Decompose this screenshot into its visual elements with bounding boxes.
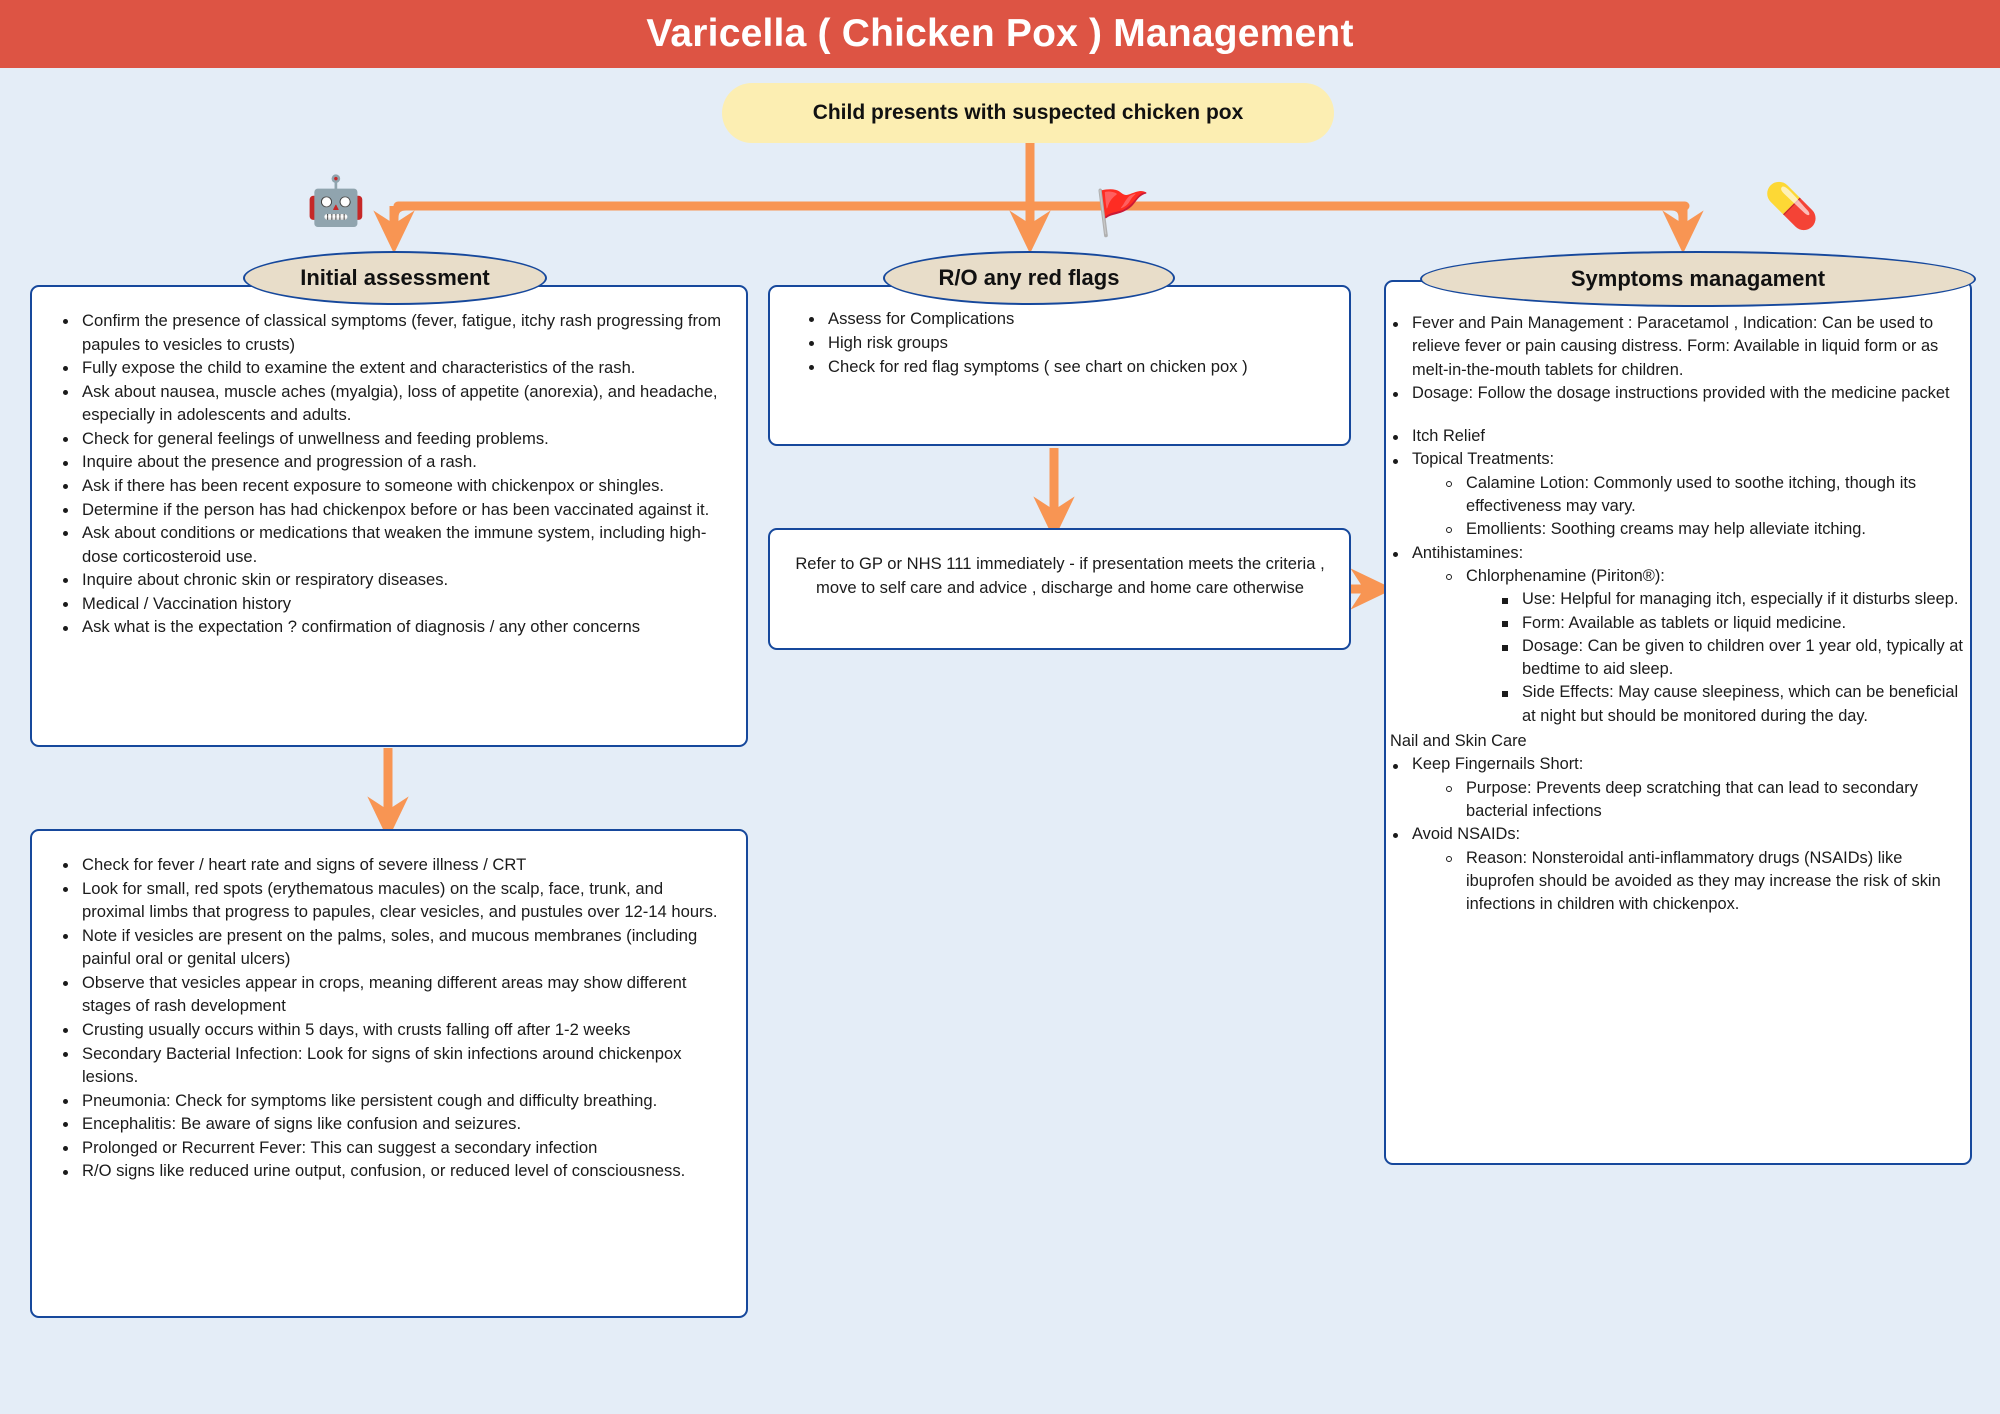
list-item: Emollients: Soothing creams may help all… bbox=[1438, 518, 1964, 541]
section-oval-label: R/O any red flags bbox=[939, 265, 1120, 291]
fingernails-label: Keep Fingernails Short: bbox=[1412, 755, 1583, 773]
chlorphenamine-details-list: Use: Helpful for managing itch, especial… bbox=[1494, 588, 1964, 728]
list-item: Crusting usually occurs within 5 days, w… bbox=[56, 1018, 724, 1042]
list-item: Ask about conditions or medications that… bbox=[56, 521, 724, 568]
section-oval-symptoms-management[interactable]: Symptoms managament bbox=[1420, 251, 1976, 307]
list-item: Dosage: Follow the dosage instructions p… bbox=[1386, 382, 1964, 405]
examination-findings-box: Check for fever / heart rate and signs o… bbox=[30, 829, 748, 1318]
list-item: R/O signs like reduced urine output, con… bbox=[56, 1159, 724, 1183]
section-oval-initial-assessment[interactable]: Initial assessment bbox=[243, 251, 547, 305]
topical-items-list: Calamine Lotion: Commonly used to soothe… bbox=[1438, 472, 1964, 542]
start-node[interactable]: Child presents with suspected chicken po… bbox=[722, 83, 1334, 143]
list-item: Secondary Bacterial Infection: Look for … bbox=[56, 1042, 724, 1089]
list-item: Encephalitis: Be aware of signs like con… bbox=[56, 1112, 724, 1136]
nail-and-skin-care-heading: Nail and Skin Care bbox=[1386, 730, 1972, 753]
page-title: Varicella ( Chicken Pox ) Management bbox=[646, 12, 1353, 56]
list-item: Ask what is the expectation ? confirmati… bbox=[56, 615, 724, 639]
section-oval-label: Initial assessment bbox=[300, 265, 490, 291]
start-node-label: Child presents with suspected chicken po… bbox=[813, 101, 1244, 125]
list-item: Ask about nausea, muscle aches (myalgia)… bbox=[56, 380, 724, 427]
list-item: Check for fever / heart rate and signs o… bbox=[56, 853, 724, 877]
pharmacy-icon: 💊 bbox=[1764, 185, 1819, 229]
list-item: Look for small, red spots (erythematous … bbox=[56, 877, 724, 924]
list-item: Use: Helpful for managing itch, especial… bbox=[1494, 588, 1964, 611]
list-item-itch-relief: Itch Relief bbox=[1386, 425, 1964, 448]
section-oval-label: Symptoms managament bbox=[1571, 266, 1825, 292]
list-item: Note if vesicles are present on the palm… bbox=[56, 924, 724, 971]
connector-elbow-right bbox=[1671, 206, 1683, 232]
list-item: Inquire about chronic skin or respirator… bbox=[56, 568, 724, 592]
list-item: Assess for Complications bbox=[802, 307, 1314, 331]
list-item: Prolonged or Recurrent Fever: This can s… bbox=[56, 1136, 724, 1160]
referral-box: Refer to GP or NHS 111 immediately - if … bbox=[768, 528, 1351, 650]
list-item: Reason: Nonsteroidal anti-inflammatory d… bbox=[1438, 847, 1964, 917]
list-item: Pneumonia: Check for symptoms like persi… bbox=[56, 1089, 724, 1113]
list-item: Observe that vesicles appear in crops, m… bbox=[56, 971, 724, 1018]
nsaids-details-list: Reason: Nonsteroidal anti-inflammatory d… bbox=[1438, 847, 1964, 917]
list-item-chlorphenamine: Chlorphenamine (Piriton®): Use: Helpful … bbox=[1438, 565, 1964, 728]
list-item: Inquire about the presence and progressi… bbox=[56, 450, 724, 474]
fingernails-details-list: Purpose: Prevents deep scratching that c… bbox=[1438, 777, 1964, 824]
nsaids-label: Avoid NSAIDs: bbox=[1412, 825, 1520, 843]
red-flag-icon: 🚩 bbox=[1095, 192, 1150, 236]
referral-text: Refer to GP or NHS 111 immediately - if … bbox=[786, 552, 1334, 600]
connector-elbow-left bbox=[394, 206, 406, 232]
list-item: High risk groups bbox=[802, 331, 1314, 355]
topical-treatments-label: Topical Treatments: bbox=[1412, 450, 1554, 468]
header-banner: Varicella ( Chicken Pox ) Management bbox=[0, 0, 2000, 68]
antihistamines-label: Antihistamines: bbox=[1412, 544, 1523, 562]
itch-relief-list: Itch Relief Topical Treatments: Calamine… bbox=[1386, 425, 1972, 728]
symptoms-management-content: Fever and Pain Management : Paracetamol … bbox=[1386, 312, 1972, 916]
detective-icon: 🤖 bbox=[306, 178, 366, 226]
list-item: Check for general feelings of unwellness… bbox=[56, 427, 724, 451]
list-item: Form: Available as tablets or liquid med… bbox=[1494, 612, 1964, 635]
list-item: Determine if the person has had chickenp… bbox=[56, 498, 724, 522]
chlorphenamine-label: Chlorphenamine (Piriton®): bbox=[1466, 567, 1665, 585]
list-item-topical-treatments: Topical Treatments: Calamine Lotion: Com… bbox=[1386, 448, 1964, 541]
list-item-antihistamines: Antihistamines: Chlorphenamine (Piriton®… bbox=[1386, 542, 1964, 728]
initial-assessment-list: Confirm the presence of classical sympto… bbox=[56, 309, 724, 639]
nail-skin-care-list: Keep Fingernails Short: Purpose: Prevent… bbox=[1386, 753, 1972, 916]
list-item: Medical / Vaccination history bbox=[56, 592, 724, 616]
red-flags-box: Assess for ComplicationsHigh risk groups… bbox=[768, 285, 1351, 446]
antihistamine-drug-list: Chlorphenamine (Piriton®): Use: Helpful … bbox=[1438, 565, 1964, 728]
list-item: Fever and Pain Management : Paracetamol … bbox=[1386, 312, 1964, 382]
list-item: Side Effects: May cause sleepiness, whic… bbox=[1494, 681, 1964, 728]
list-item: Purpose: Prevents deep scratching that c… bbox=[1438, 777, 1964, 824]
initial-assessment-box: Confirm the presence of classical sympto… bbox=[30, 285, 748, 747]
symptoms-management-box: Fever and Pain Management : Paracetamol … bbox=[1384, 280, 1972, 1165]
list-item: Dosage: Can be given to children over 1 … bbox=[1494, 635, 1964, 682]
list-item: Check for red flag symptoms ( see chart … bbox=[802, 355, 1314, 379]
list-item: Fully expose the child to examine the ex… bbox=[56, 356, 724, 380]
list-item-nsaids: Avoid NSAIDs: Reason: Nonsteroidal anti-… bbox=[1386, 823, 1964, 916]
list-item: Confirm the presence of classical sympto… bbox=[56, 309, 724, 356]
list-item: Ask if there has been recent exposure to… bbox=[56, 474, 724, 498]
list-item: Calamine Lotion: Commonly used to soothe… bbox=[1438, 472, 1964, 519]
section-oval-red-flags[interactable]: R/O any red flags bbox=[883, 251, 1175, 305]
fever-pain-list: Fever and Pain Management : Paracetamol … bbox=[1386, 312, 1972, 405]
red-flags-list: Assess for ComplicationsHigh risk groups… bbox=[802, 307, 1314, 379]
list-item-fingernails: Keep Fingernails Short: Purpose: Prevent… bbox=[1386, 753, 1964, 823]
examination-findings-list: Check for fever / heart rate and signs o… bbox=[56, 853, 724, 1183]
spacer bbox=[1386, 405, 1972, 425]
